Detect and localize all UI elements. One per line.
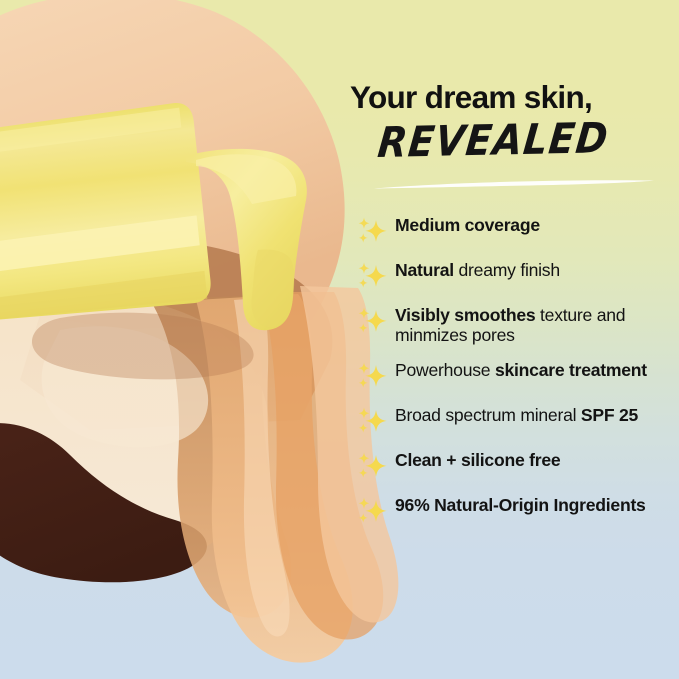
sparkles-icon <box>356 306 390 336</box>
feature-item-label: Natural dreamy finish <box>395 259 560 280</box>
marketing-copy: Your dream skin, REVEALED Medium coverag… <box>348 0 679 679</box>
sparkles-icon <box>356 306 390 336</box>
feature-item-4: Powerhouse skincare treatment <box>356 359 676 391</box>
sparkles-icon <box>356 361 390 391</box>
feature-item-7: 96% Natural-Origin Ingredients <box>356 494 676 526</box>
headline-line-2-revealed: REVEALED <box>376 117 611 164</box>
feature-item-label: Visibly smoothes texture and minmizes po… <box>395 304 676 346</box>
sparkles-icon <box>356 361 390 391</box>
sparkles-icon <box>356 216 390 246</box>
feature-segment: Broad spectrum mineral <box>395 405 581 425</box>
feature-segment: Natural <box>395 260 454 280</box>
sparkles-icon <box>356 261 390 291</box>
headline-line-1: Your dream skin, <box>350 82 592 114</box>
sparkles-icon <box>356 406 390 436</box>
feature-segment: Clean + silicone free <box>395 450 560 470</box>
feature-segment: Powerhouse <box>395 360 495 380</box>
product-marketing-image: Your dream skin, REVEALED Medium coverag… <box>0 0 679 679</box>
feature-segment: SPF 25 <box>581 405 638 425</box>
brush-swoosh-icon <box>372 178 657 190</box>
feature-item-1: Medium coverage <box>356 214 676 246</box>
feature-list: Medium coverage Natural dreamy finish Vi… <box>356 214 676 539</box>
feature-segment: skincare treatment <box>495 360 647 380</box>
feature-segment: Visibly smoothes <box>395 305 535 325</box>
feature-item-label: 96% Natural-Origin Ingredients <box>395 494 646 515</box>
feature-item-3: Visibly smoothes texture and minmizes po… <box>356 304 676 346</box>
feature-segment: Medium coverage <box>395 215 540 235</box>
sparkles-icon <box>356 406 390 436</box>
feature-item-label: Broad spectrum mineral SPF 25 <box>395 404 638 425</box>
feature-item-6: Clean + silicone free <box>356 449 676 481</box>
feature-item-2: Natural dreamy finish <box>356 259 676 291</box>
sparkles-icon <box>356 496 390 526</box>
sparkles-icon <box>356 216 390 246</box>
feature-item-5: Broad spectrum mineral SPF 25 <box>356 404 676 436</box>
feature-item-label: Clean + silicone free <box>395 449 560 470</box>
feature-item-label: Powerhouse skincare treatment <box>395 359 647 380</box>
feature-item-label: Medium coverage <box>395 214 540 235</box>
sparkles-icon <box>356 496 390 526</box>
feature-segment: 96% Natural-Origin Ingredients <box>395 495 646 515</box>
sparkles-icon <box>356 451 390 481</box>
sparkles-icon <box>356 451 390 481</box>
sparkles-icon <box>356 261 390 291</box>
feature-segment: dreamy finish <box>454 260 560 280</box>
